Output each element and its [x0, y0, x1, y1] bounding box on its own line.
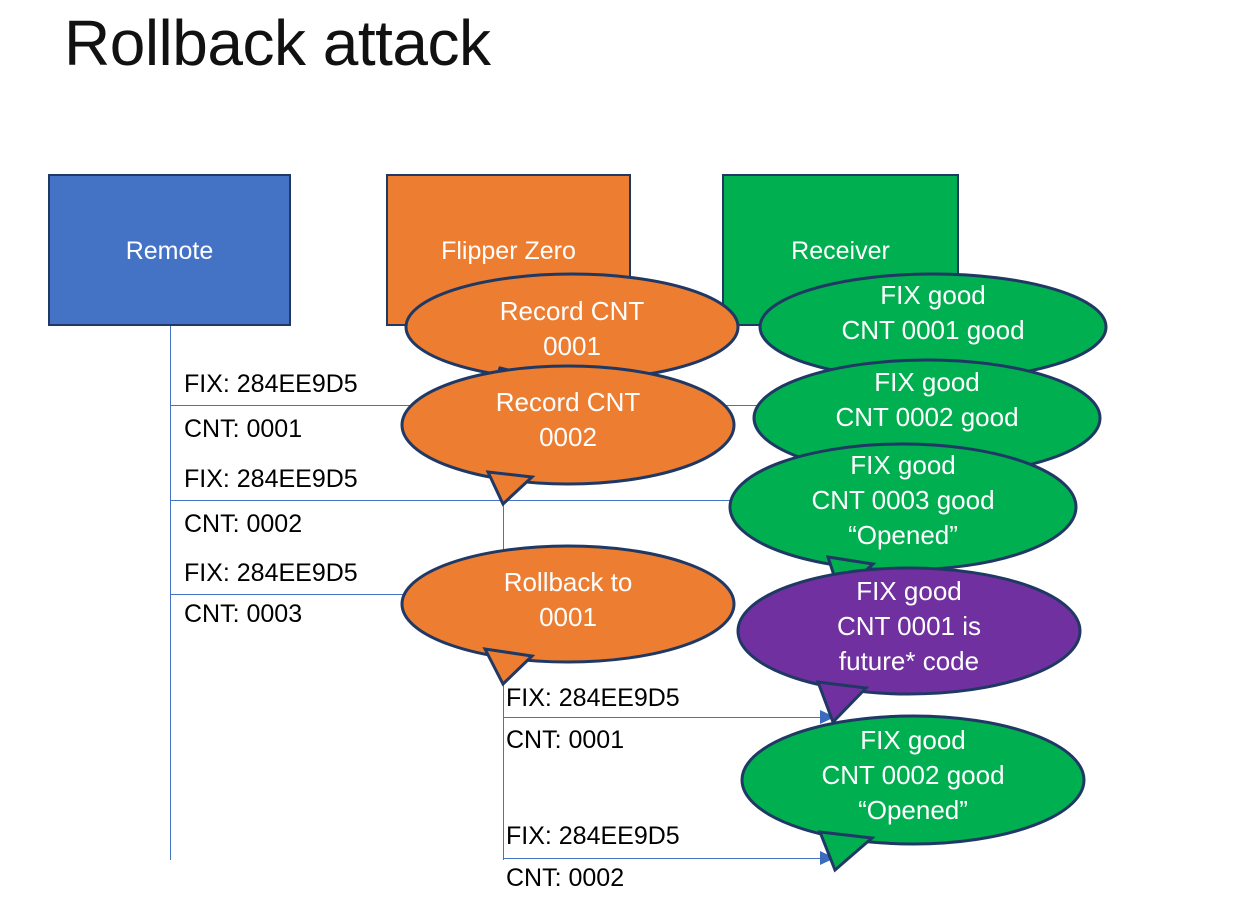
- lane-header-flipper-zero-label: Flipper Zero: [441, 237, 576, 266]
- callout-receiver-cnt-0003-opened[interactable]: FIX good CNT 0003 good “Opened”: [728, 442, 1078, 572]
- page-title: Rollback attack: [64, 8, 490, 80]
- callout-receiver-cnt-0001-future[interactable]: FIX good CNT 0001 is future* code: [736, 566, 1082, 696]
- message-2-cnt-label: CNT: 0002: [184, 512, 302, 537]
- lane-header-receiver-label: Receiver: [791, 237, 890, 266]
- message-1-fix-label: FIX: 284EE9D5: [184, 372, 358, 397]
- callout-flipper-rollback-0001[interactable]: Rollback to 0001: [400, 544, 736, 664]
- lane-header-remote-label: Remote: [126, 237, 214, 266]
- message-3-cnt-label: CNT: 0003: [184, 602, 302, 627]
- callout-flipper-record-0002[interactable]: Record CNT 0002: [400, 364, 736, 484]
- callout-receiver-cnt-0002-opened[interactable]: FIX good CNT 0002 good “Opened”: [740, 714, 1086, 844]
- message-3-fix-label: FIX: 284EE9D5: [184, 561, 358, 586]
- message-4-cnt-label: CNT: 0001: [506, 728, 624, 753]
- message-5-fix-label: FIX: 284EE9D5: [506, 824, 680, 849]
- message-2-fix-label: FIX: 284EE9D5: [184, 467, 358, 492]
- message-5-cnt-label: CNT: 0002: [506, 866, 624, 891]
- lane-header-remote[interactable]: Remote: [48, 174, 291, 326]
- message-1-cnt-label: CNT: 0001: [184, 417, 302, 442]
- lifeline-remote: [170, 326, 171, 860]
